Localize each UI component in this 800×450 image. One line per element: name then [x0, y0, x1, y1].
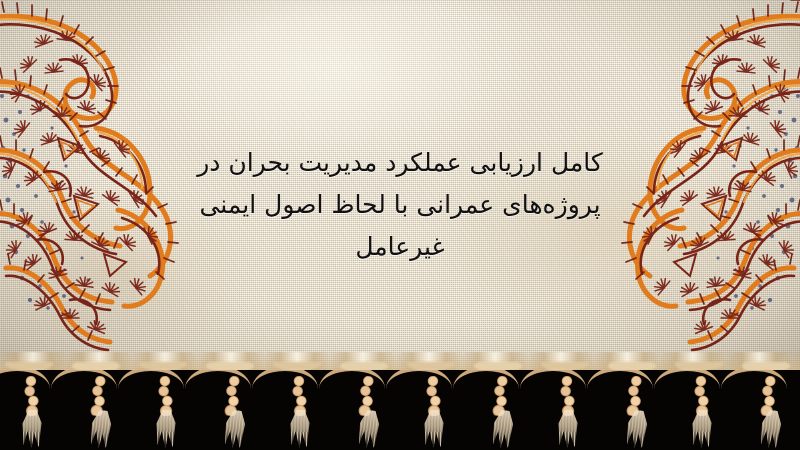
tassel-fringe — [0, 370, 800, 450]
slide-canvas: کامل ارزیابی عملکرد مدیریت بحران در پروژ… — [0, 0, 800, 450]
tassel-tail — [152, 410, 180, 448]
tassel-tail — [286, 410, 314, 448]
title-line-1: کامل ارزیابی عملکرد مدیریت بحران در — [190, 142, 610, 184]
tassel-knots — [87, 375, 110, 417]
tassel-knots — [355, 375, 378, 417]
tassel-knots — [489, 375, 512, 417]
tassel-tail — [420, 410, 448, 448]
tassel-knots — [757, 375, 780, 417]
title-line-3: غیرعامل — [190, 226, 610, 268]
tassel-tail — [18, 410, 46, 448]
boteh-contours-maroon — [0, 24, 159, 350]
title-line-2: پروژه‌های عمرانی با لحاظ اصول ایمنی — [190, 184, 610, 226]
tassel-tail — [688, 410, 716, 448]
slide-title: کامل ارزیابی عملکرد مدیریت بحران در پروژ… — [190, 142, 610, 268]
tassel — [741, 370, 797, 450]
tassel-tail — [554, 410, 582, 448]
tassel-knots — [623, 375, 646, 417]
tassel-knots — [221, 375, 244, 417]
